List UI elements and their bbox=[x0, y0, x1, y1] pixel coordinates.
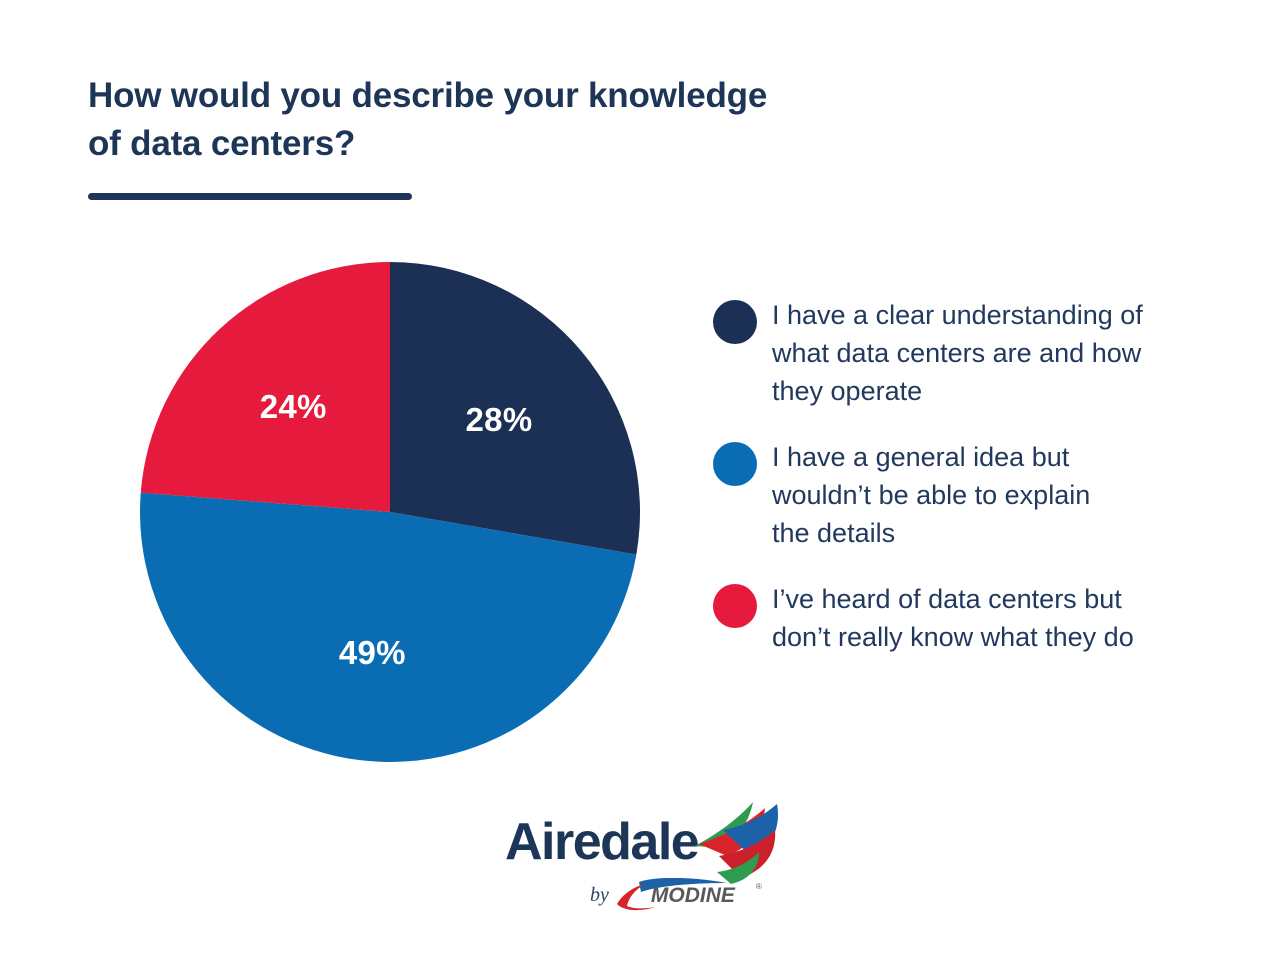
airedale-swoosh-icon bbox=[693, 800, 785, 884]
airedale-wordmark: Airedale bbox=[505, 816, 698, 868]
legend-color-dot-icon bbox=[713, 300, 757, 344]
airedale-by-modine-logo: Airedale by MODINE ® bbox=[505, 800, 795, 910]
logo-byline: by MODINE ® bbox=[590, 878, 765, 912]
title-underline-rule bbox=[88, 193, 412, 200]
legend-item-label: I have a clear understanding of what dat… bbox=[772, 296, 1143, 410]
pie-chart-svg bbox=[140, 262, 640, 762]
legend-color-dot-icon bbox=[713, 442, 757, 486]
legend-item-label: I’ve heard of data centers but don’t rea… bbox=[772, 580, 1134, 656]
legend-item[interactable]: I have a clear understanding of what dat… bbox=[713, 296, 1213, 410]
pie-slice-navy[interactable] bbox=[390, 262, 640, 555]
modine-wordmark: MODINE bbox=[651, 884, 735, 908]
legend-item[interactable]: I have a general idea but wouldn’t be ab… bbox=[713, 438, 1213, 552]
legend-color-dot-icon bbox=[713, 584, 757, 628]
pie-chart: 28% 49% 24% bbox=[140, 262, 640, 762]
title-block: How would you describe your knowledge of… bbox=[88, 72, 948, 200]
pie-slice-red[interactable] bbox=[141, 262, 390, 512]
legend-item-label: I have a general idea but wouldn’t be ab… bbox=[772, 438, 1090, 552]
chart-legend: I have a clear understanding of what dat… bbox=[713, 296, 1213, 684]
logo-by-text: by bbox=[590, 884, 609, 907]
modine-logo: MODINE ® bbox=[615, 878, 765, 912]
modine-trademark: ® bbox=[756, 882, 762, 891]
legend-item[interactable]: I’ve heard of data centers but don’t rea… bbox=[713, 580, 1213, 656]
page-title: How would you describe your knowledge of… bbox=[88, 72, 948, 168]
